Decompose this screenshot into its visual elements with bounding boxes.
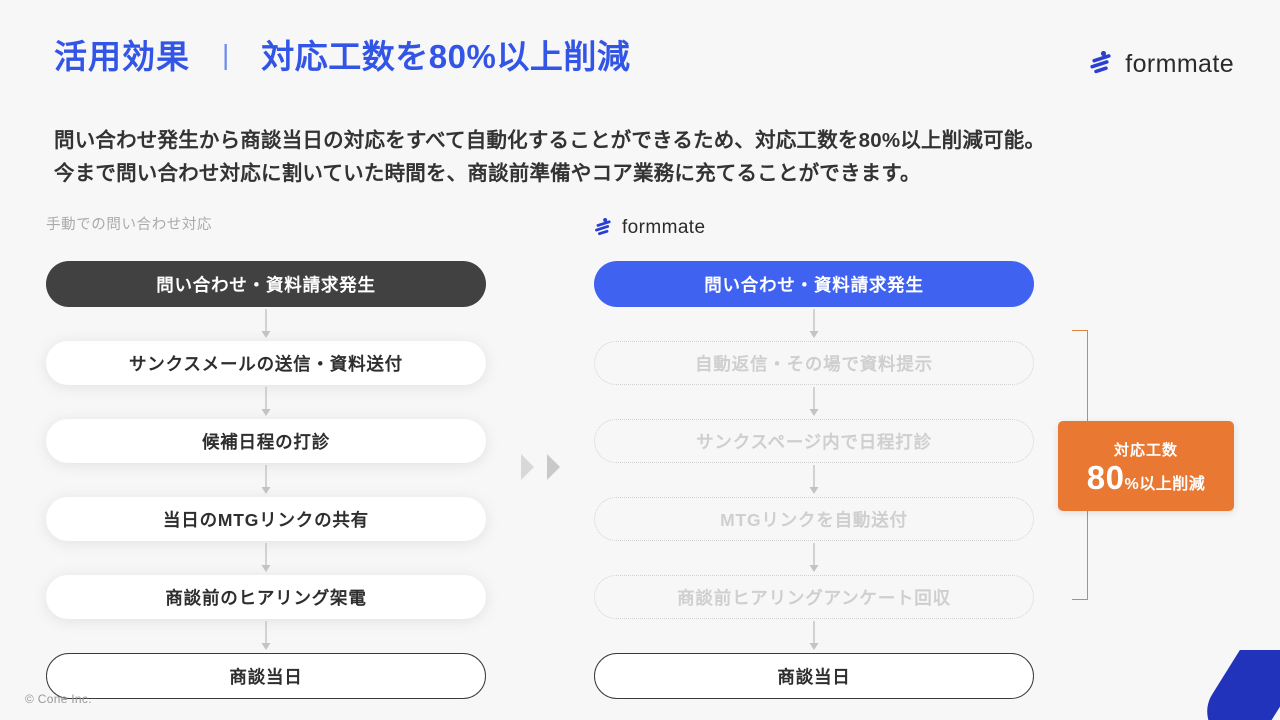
badge-number: 80 — [1087, 461, 1125, 494]
flow-arrow-down-icon — [594, 463, 1034, 497]
formmate-logo-icon — [1089, 50, 1115, 79]
flow-node: 問い合わせ・資料請求発生 — [594, 261, 1034, 307]
double-chevron-right-icon — [518, 452, 562, 482]
left-flow-column: 手動での問い合わせ対応 問い合わせ・資料請求発生 サンクスメールの送信・資料送付… — [46, 213, 486, 699]
lead-line-1: 問い合わせ発生から商談当日の対応をすべて自動化することができるため、対応工数を8… — [54, 124, 1045, 157]
badge-title: 対応工数 — [1114, 439, 1178, 460]
lead-line-2: 今まで問い合わせ対応に割いていた時間を、商談前準備やコア業務に充てることができま… — [54, 157, 1045, 190]
flow-arrow-down-icon — [46, 463, 486, 497]
flow-arrow-down-icon — [594, 541, 1034, 575]
right-flow-list: 問い合わせ・資料請求発生 自動返信・その場で資料提示 サンクスページ内で日程打診… — [594, 261, 1034, 699]
flow-arrow-down-icon — [46, 307, 486, 341]
flow-node: 問い合わせ・資料請求発生 — [46, 261, 486, 307]
left-column-label: 手動での問い合わせ対応 — [46, 213, 486, 243]
corner-decoration — [1190, 650, 1280, 720]
left-flow-list: 問い合わせ・資料請求発生 サンクスメールの送信・資料送付 候補日程の打診 当日の… — [46, 261, 486, 699]
flow-node: 商談当日 — [46, 653, 486, 699]
corner-shape — [1195, 650, 1280, 720]
flow-arrow-down-icon — [594, 619, 1034, 653]
flow-node: サンクスページ内で日程打診 — [594, 419, 1034, 463]
flow-node: サンクスメールの送信・資料送付 — [46, 341, 486, 385]
footer-copyright: © Cone Inc. — [25, 692, 92, 706]
right-flow-column: formmate 問い合わせ・資料請求発生 自動返信・その場で資料提示 サンクス… — [594, 213, 1034, 699]
flow-arrow-down-icon — [594, 385, 1034, 419]
flow-arrow-down-icon — [46, 619, 486, 653]
lead-paragraph: 問い合わせ発生から商談当日の対応をすべて自動化することができるため、対応工数を8… — [54, 124, 1045, 190]
flow-arrow-down-icon — [46, 385, 486, 419]
brand-logo-header: formmate — [1089, 50, 1234, 79]
flow-node: MTGリンクを自動送付 — [594, 497, 1034, 541]
right-column-label: formmate — [594, 213, 1034, 243]
flow-node: 候補日程の打診 — [46, 419, 486, 463]
reduction-badge: 対応工数 80 %以上削減 — [1058, 421, 1234, 511]
formmate-logo-icon — [594, 217, 614, 240]
badge-unit: %以上削減 — [1124, 470, 1205, 494]
flow-node: 商談前ヒアリングアンケート回収 — [594, 575, 1034, 619]
flow-node: 自動返信・その場で資料提示 — [594, 341, 1034, 385]
brand-name: formmate — [1125, 50, 1234, 79]
slide-header: 活用効果 | 対応工数を80%以上削減 — [54, 40, 630, 73]
flow-node: 商談当日 — [594, 653, 1034, 699]
flow-node: 当日のMTGリンクの共有 — [46, 497, 486, 541]
slide-root: 活用効果 | 対応工数を80%以上削減 formmate 問い合わせ発生から商談… — [0, 0, 1280, 720]
badge-value: 80 %以上削減 — [1087, 461, 1205, 494]
flow-arrow-down-icon — [594, 307, 1034, 341]
page-subtitle: 対応工数を80%以上削減 — [261, 40, 630, 73]
page-title: 活用効果 — [54, 40, 190, 73]
title-separator: | — [222, 41, 229, 69]
flow-node: 商談前のヒアリング架電 — [46, 575, 486, 619]
flow-arrow-down-icon — [46, 541, 486, 575]
brand-name: formmate — [622, 217, 705, 239]
